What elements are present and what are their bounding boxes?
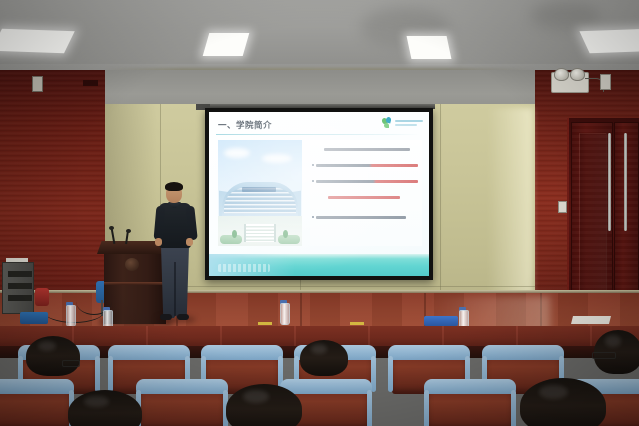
presenter-shoe	[160, 314, 172, 320]
seat-armrest	[388, 356, 393, 392]
equipment-slot	[8, 283, 32, 289]
photo-cloud	[262, 154, 292, 163]
seat-armrest	[424, 390, 429, 426]
seat-armrest	[108, 356, 113, 392]
audience-member-head	[26, 336, 80, 376]
photo-cloud	[224, 148, 250, 158]
slide-lead-text	[324, 148, 410, 151]
audience-member-head	[300, 340, 348, 376]
photo-steps	[246, 224, 274, 242]
presenter-shoe	[177, 314, 189, 320]
audience-seat[interactable]	[0, 386, 70, 426]
presentation-slide: 一、学院简介	[209, 112, 429, 276]
audience-seat[interactable]	[140, 386, 224, 426]
seat-armrest	[367, 390, 372, 426]
eyeglasses-icon	[62, 360, 80, 367]
university-leaf-logo-icon	[381, 117, 393, 129]
photo-stair-rail	[274, 224, 276, 242]
lamp-head-icon	[570, 68, 585, 81]
blue-stool[interactable]	[20, 312, 48, 324]
presenter-hair	[165, 182, 183, 191]
projection-screen: 一、学院简介	[205, 108, 433, 280]
photo-hedge	[278, 235, 300, 244]
av-equipment-cabinet	[2, 262, 34, 314]
audience-member-head	[68, 390, 142, 426]
presenter-hand	[186, 238, 193, 246]
podium-trim	[104, 282, 166, 285]
wall-fixture	[83, 80, 98, 86]
screen-surface: 一、学院简介	[209, 112, 429, 276]
door-handle-icon[interactable]	[624, 133, 627, 231]
floor-marker	[258, 322, 272, 325]
slide-footer-bar	[209, 254, 429, 276]
photo-building-sign	[242, 187, 276, 192]
seat-armrest	[95, 356, 100, 392]
red-bag[interactable]	[35, 288, 49, 306]
audience-seat[interactable]	[428, 386, 512, 426]
eyeglasses-icon	[592, 352, 616, 359]
photo-tree	[283, 230, 288, 238]
equipment-slot	[8, 271, 32, 277]
photo-hedge	[220, 235, 242, 244]
microphone-icon	[109, 226, 114, 230]
ceiling-light-panel	[579, 29, 639, 53]
photo-tree	[232, 230, 237, 238]
slide-campus-photo	[218, 140, 302, 246]
audience-member-head	[520, 378, 606, 426]
door-handle-icon[interactable]	[608, 133, 611, 231]
ceiling-light-panel	[407, 36, 452, 59]
seat-cushion	[388, 345, 470, 360]
audience-member-head	[226, 384, 302, 426]
seat-cushion	[201, 345, 283, 360]
school-crest-icon	[125, 258, 139, 271]
slide-logo	[381, 117, 423, 129]
slide-bullet-text	[316, 164, 418, 167]
slide-title: 一、学院简介	[218, 119, 272, 131]
slide-bullet-text	[316, 216, 406, 219]
blue-folder[interactable]	[424, 316, 458, 326]
ceiling-light-panel	[203, 33, 250, 56]
seat-armrest	[511, 390, 516, 426]
lamp-head-icon	[554, 68, 569, 81]
seat-cushion	[280, 379, 372, 394]
seat-cushion	[108, 345, 190, 360]
slide-bullet-text	[328, 196, 400, 199]
slide-bullet-text	[316, 180, 418, 183]
junction-box	[600, 74, 611, 90]
slide-title-rule	[216, 134, 420, 135]
wall-highlight	[487, 108, 533, 308]
bullet-icon	[312, 216, 314, 218]
door-panel	[579, 133, 607, 311]
water-bottle[interactable]	[66, 305, 76, 327]
water-bottle[interactable]	[280, 303, 290, 325]
slide-text-block	[310, 140, 422, 246]
light-switch[interactable]	[558, 201, 567, 213]
bullet-icon	[312, 164, 314, 166]
emergency-light	[551, 72, 589, 93]
ceiling-smudge	[530, 2, 600, 30]
seat-cushion	[482, 345, 564, 360]
seat-cushion	[424, 379, 516, 394]
floor-marker	[350, 322, 364, 325]
logo-wordmark	[395, 120, 423, 126]
presenter-leg-seam	[174, 262, 176, 316]
presenter-hand	[155, 238, 162, 246]
equipment-slot	[8, 295, 32, 301]
paper-sheet[interactable]	[571, 316, 611, 324]
microphone-icon	[126, 229, 131, 233]
wall-vent-icon	[32, 76, 43, 92]
lecture-hall-photo: 一、学院简介	[0, 0, 639, 426]
ceiling-light-panel	[0, 29, 75, 54]
bullet-icon	[312, 180, 314, 182]
seat-cushion	[136, 379, 228, 394]
footer-watermark	[218, 264, 270, 272]
seat-cushion	[0, 379, 74, 394]
